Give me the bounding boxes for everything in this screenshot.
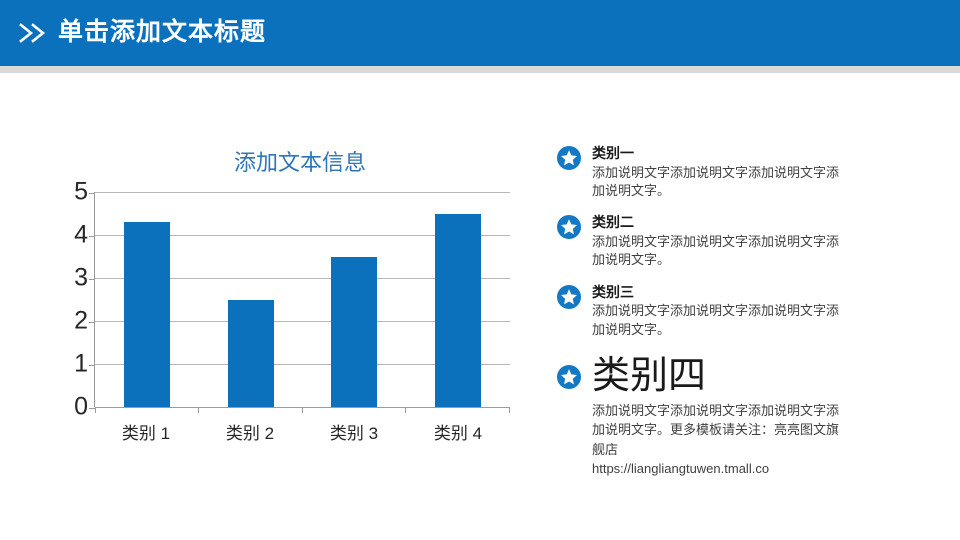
- x-tick-label: 类别 3: [302, 419, 406, 444]
- list-item-desc: 添加说明文字添加说明文字添加说明文字添加说明文字。: [592, 302, 842, 339]
- y-tick-label: 1: [74, 352, 88, 377]
- featured-item: 类别四: [556, 357, 956, 397]
- x-tick-label: 类别 4: [406, 419, 510, 444]
- star-circle-icon: [556, 364, 582, 390]
- bar[interactable]: [124, 222, 170, 407]
- header-underline: [0, 66, 960, 73]
- page-title: 单击添加文本标题: [58, 20, 266, 47]
- featured-item-desc: 添加说明文字添加说明文字添加说明文字添加说明文字。更多模板请关注：亮亮图文旗舰店: [592, 403, 839, 456]
- y-axis: 5 4 3 2 1 0: [60, 192, 94, 407]
- y-tick-label: 3: [74, 266, 88, 291]
- bar-chart: 添加文本信息 5 4 3 2 1 0: [60, 140, 510, 470]
- header-bar: 单击添加文本标题: [0, 0, 960, 66]
- chart-title: 添加文本信息: [60, 152, 510, 174]
- bar[interactable]: [228, 300, 274, 408]
- star-circle-icon: [556, 214, 582, 240]
- chart-plot-region: 5 4 3 2 1 0: [60, 192, 510, 407]
- list-item-title: 类别一: [592, 145, 956, 163]
- y-tick-label: 0: [74, 395, 88, 420]
- list-item-text: 类别二 添加说明文字添加说明文字添加说明文字添加说明文字。: [592, 214, 956, 269]
- plot-area: [94, 192, 510, 407]
- star-circle-icon: [556, 284, 582, 310]
- bar-slot: [95, 192, 199, 407]
- list-item-title: 类别三: [592, 284, 956, 302]
- store-url[interactable]: https://liangliangtuwen.tmall.co: [592, 459, 842, 478]
- featured-item-desc-block: 添加说明文字添加说明文字添加说明文字添加说明文字。更多模板请关注：亮亮图文旗舰店…: [592, 401, 842, 478]
- y-tick-label: 5: [74, 180, 88, 205]
- double-chevron-right-icon: [18, 21, 50, 45]
- bars-layer: [95, 192, 510, 407]
- list-item: 类别一 添加说明文字添加说明文字添加说明文字添加说明文字。: [556, 145, 956, 200]
- list-item: 类别二 添加说明文字添加说明文字添加说明文字添加说明文字。: [556, 214, 956, 269]
- list-item-desc: 添加说明文字添加说明文字添加说明文字添加说明文字。: [592, 233, 842, 270]
- x-tick-label: 类别 1: [94, 419, 198, 444]
- bar[interactable]: [331, 257, 377, 408]
- y-tick-label: 4: [74, 223, 88, 248]
- featured-item-text: 类别四: [592, 357, 956, 397]
- featured-item-title: 类别四: [592, 357, 956, 397]
- star-circle-icon: [556, 145, 582, 171]
- list-item-text: 类别三 添加说明文字添加说明文字添加说明文字添加说明文字。: [592, 284, 956, 339]
- list-item-desc: 添加说明文字添加说明文字添加说明文字添加说明文字。: [592, 164, 842, 201]
- list-item-title: 类别二: [592, 214, 956, 232]
- x-tick-label: 类别 2: [198, 419, 302, 444]
- list-item: 类别三 添加说明文字添加说明文字添加说明文字添加说明文字。: [556, 284, 956, 339]
- bar-slot: [406, 192, 510, 407]
- bar[interactable]: [435, 214, 481, 408]
- list-item-text: 类别一 添加说明文字添加说明文字添加说明文字添加说明文字。: [592, 145, 956, 200]
- bar-slot: [199, 192, 303, 407]
- y-tick-label: 2: [74, 309, 88, 334]
- content-list: 类别一 添加说明文字添加说明文字添加说明文字添加说明文字。 类别二 添加说明文字…: [556, 145, 956, 478]
- bar-slot: [303, 192, 407, 407]
- x-axis: 类别 1 类别 2 类别 3 类别 4: [94, 419, 510, 444]
- x-axis-line: [95, 407, 510, 408]
